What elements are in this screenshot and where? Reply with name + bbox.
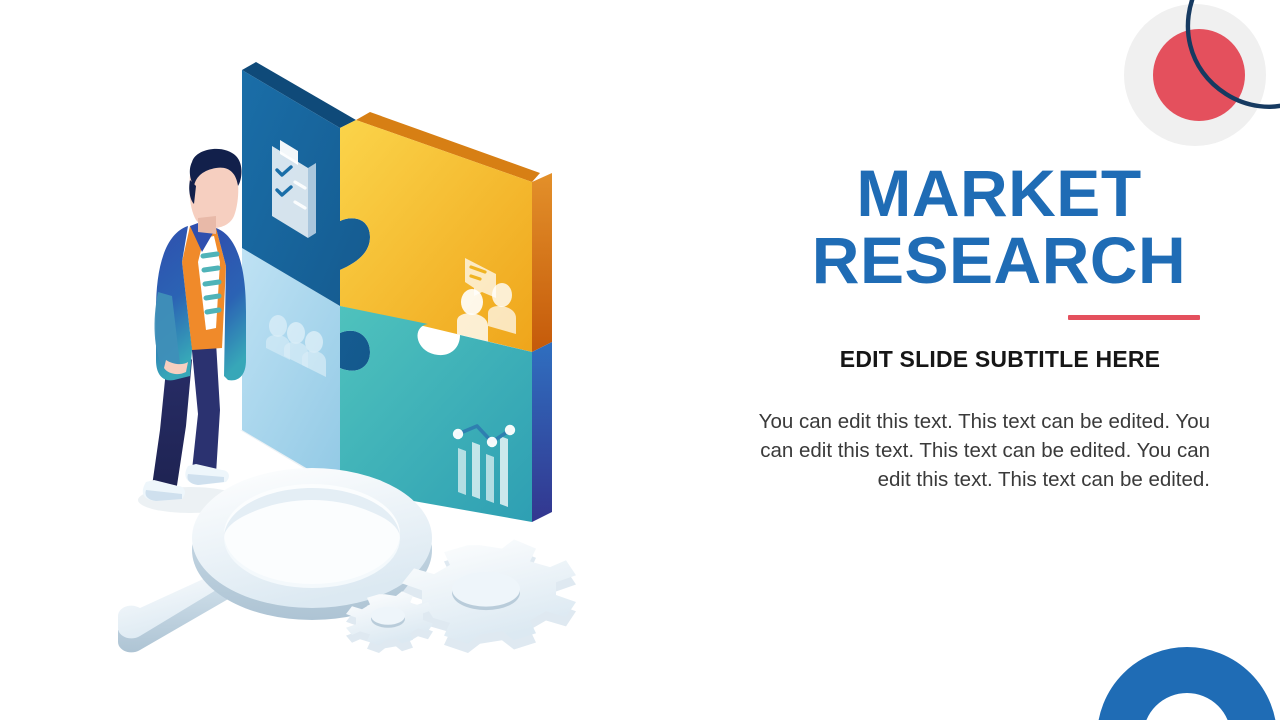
puzzle-group bbox=[242, 62, 552, 522]
slide-subtitle: EDIT SLIDE SUBTITLE HERE bbox=[748, 346, 1210, 373]
slide-body-text: You can edit this text. This text can be… bbox=[748, 407, 1210, 494]
decorative-red-circle bbox=[1153, 29, 1245, 121]
title-line-1: MARKET bbox=[856, 156, 1141, 230]
slide-text-column: MARKETRESEARCH EDIT SLIDE SUBTITLE HERE … bbox=[748, 160, 1210, 494]
presentation-slide: MARKETRESEARCH EDIT SLIDE SUBTITLE HERE … bbox=[0, 0, 1280, 720]
page-title: MARKETRESEARCH bbox=[748, 160, 1210, 295]
decorative-blue-ring bbox=[1097, 647, 1277, 720]
businessman-figure bbox=[143, 149, 246, 501]
title-line-2: RESEARCH bbox=[812, 223, 1186, 297]
illustration-market-research bbox=[40, 30, 640, 690]
title-divider-rule bbox=[1068, 315, 1200, 320]
